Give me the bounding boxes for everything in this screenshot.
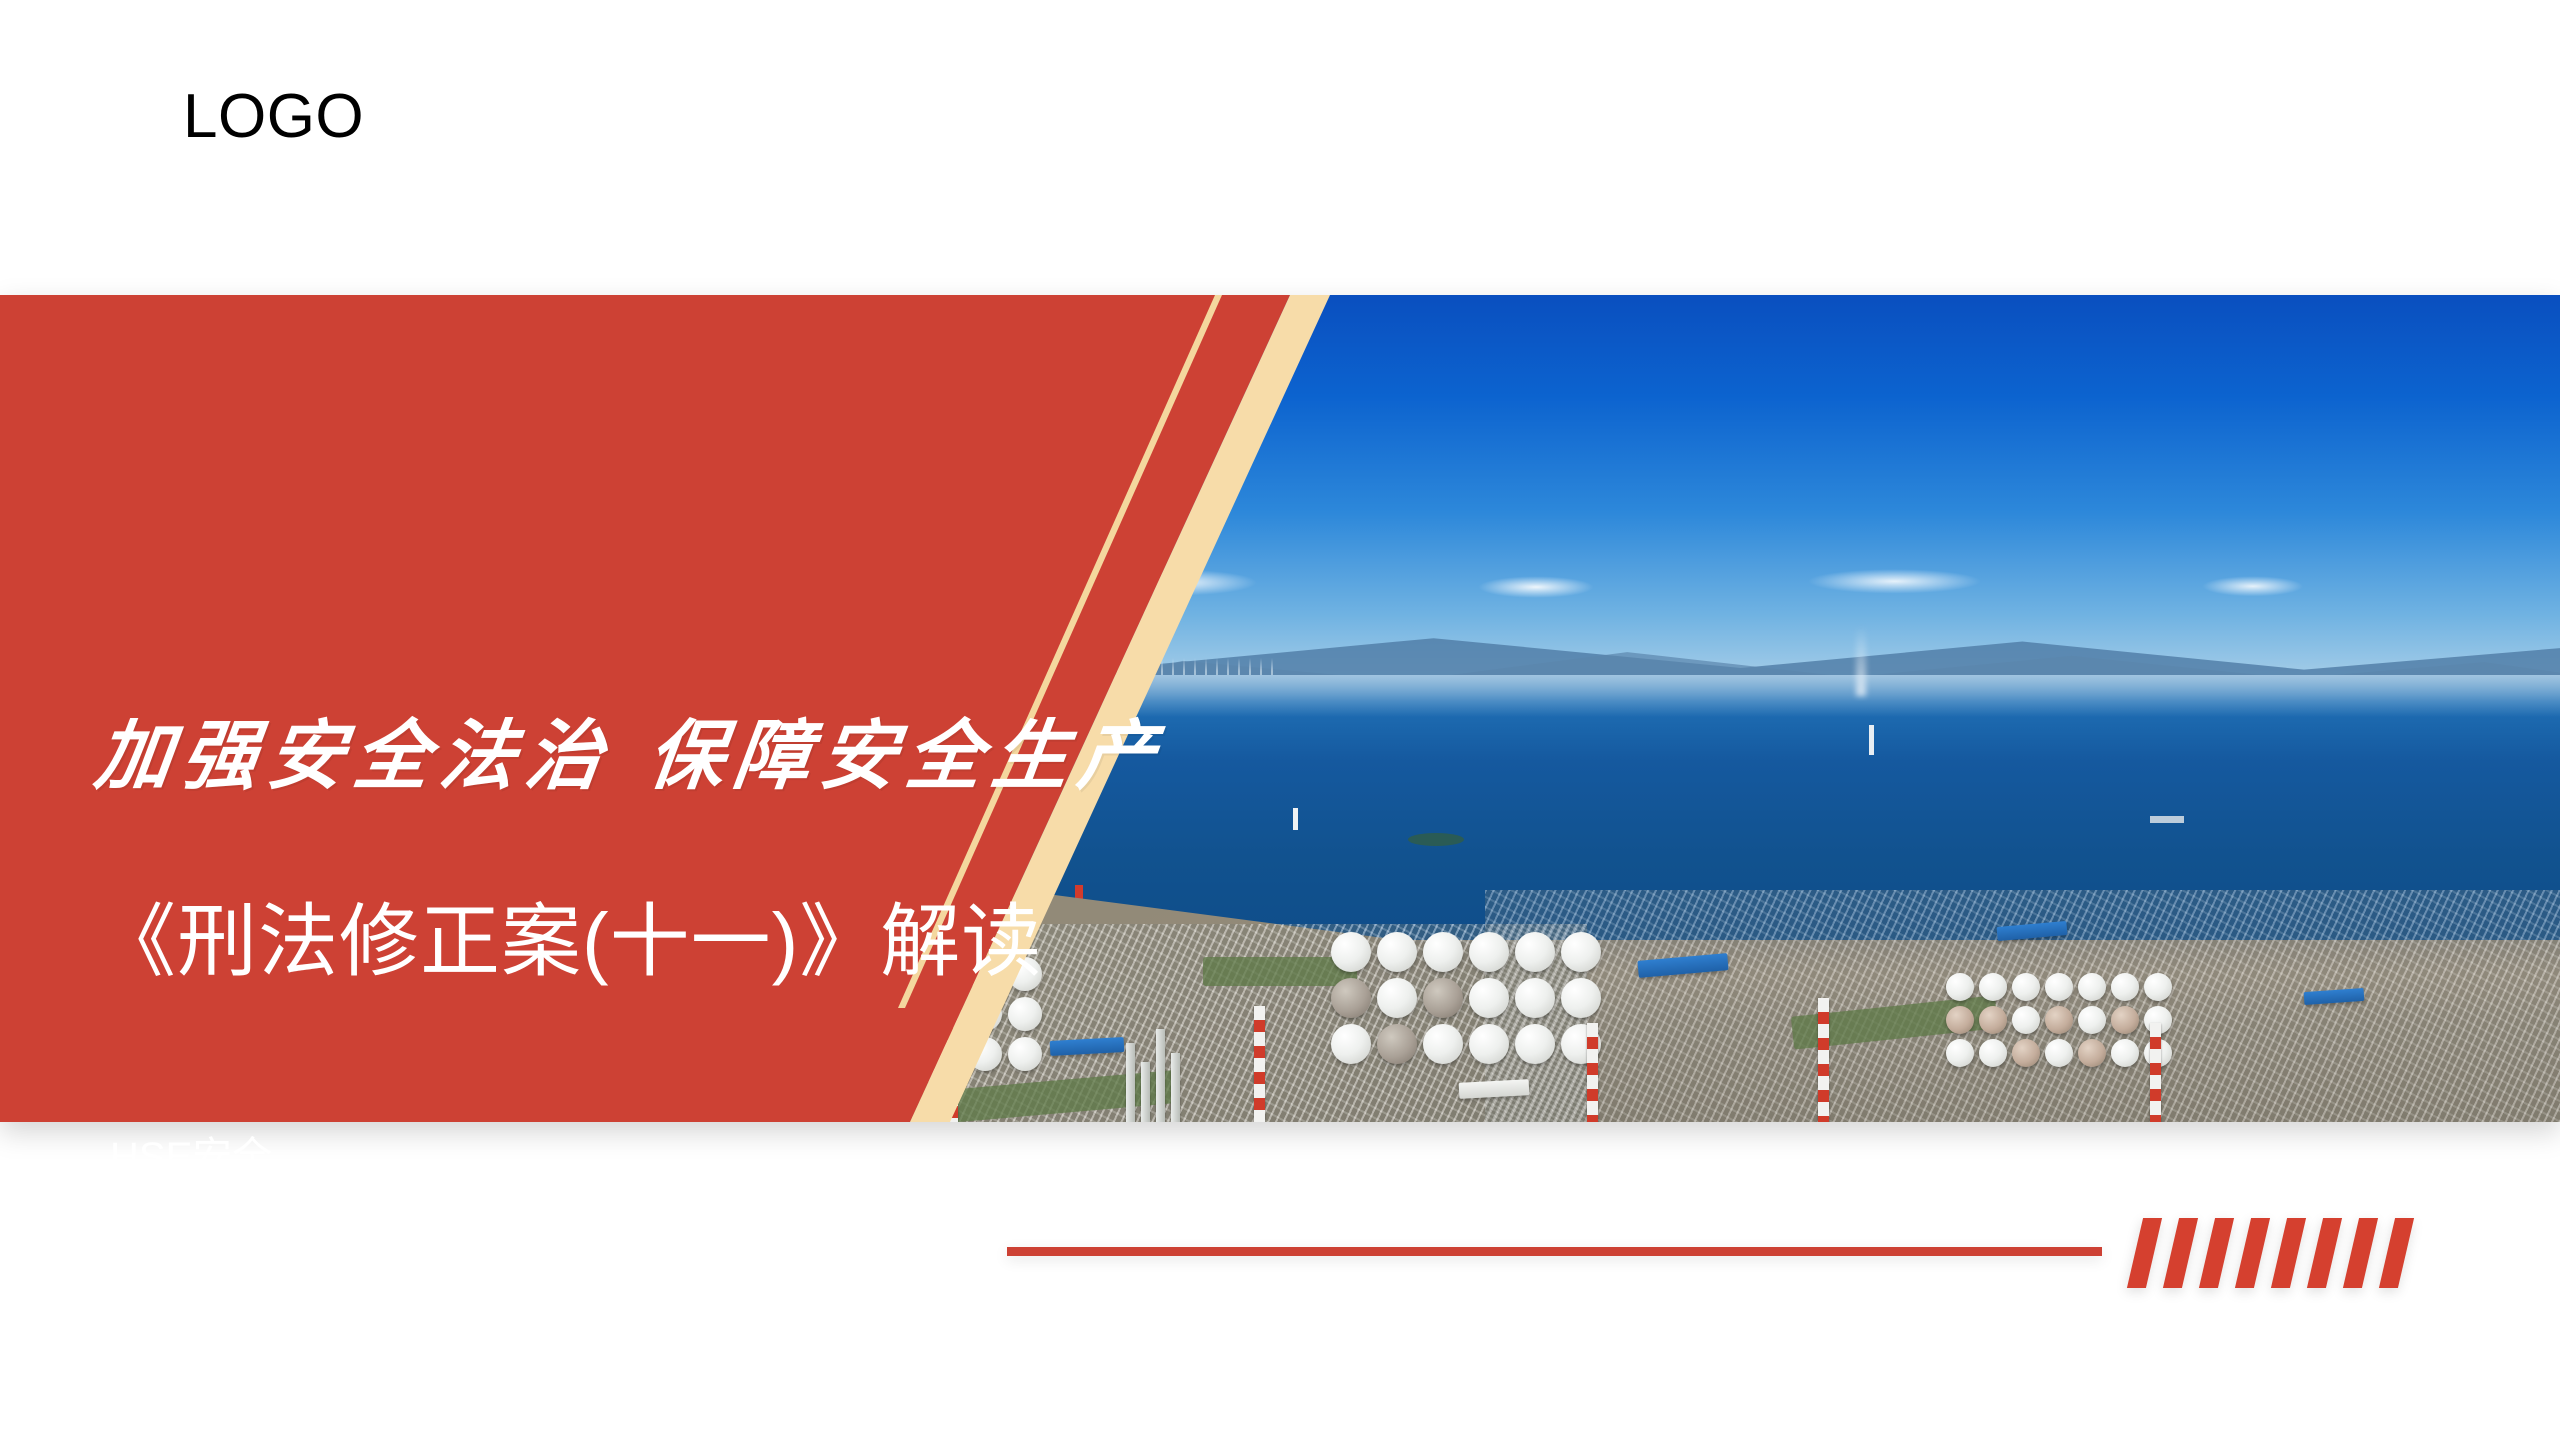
subtitle: 《刑法修正案(十一)》解读 xyxy=(96,895,1296,989)
slanted-stripe xyxy=(2271,1218,2306,1288)
presentation-slide: LOGO xyxy=(0,0,2560,1440)
byline-block: HSE安全 2021.XX.XX xyxy=(110,1125,328,1255)
slanted-stripe xyxy=(2235,1218,2270,1288)
smoke-plume xyxy=(1856,626,1866,696)
chimney xyxy=(1818,998,1829,1122)
islet xyxy=(1408,833,1464,846)
hero-banner: 加强安全法治 保障安全生产 《刑法修正案(十一)》解读 HSE安全 2021.X… xyxy=(0,295,2560,1122)
chimney xyxy=(1254,1006,1265,1122)
slanted-stripe xyxy=(2199,1218,2234,1288)
lighthouse xyxy=(1293,808,1298,830)
stripe-decoration xyxy=(2135,1218,2475,1288)
chimney xyxy=(1587,1023,1598,1122)
headline-calligraphy: 加强安全法治 保障安全生产 xyxy=(91,715,1361,797)
author-text: HSE安全 xyxy=(110,1125,328,1190)
slanted-stripe xyxy=(2163,1218,2198,1288)
distillation-columns xyxy=(1126,1023,1180,1122)
slanted-stripe xyxy=(2379,1218,2414,1288)
bottom-rule xyxy=(1007,1247,2102,1256)
date-text: 2021.XX.XX xyxy=(110,1190,328,1255)
far-chimney xyxy=(1869,725,1874,755)
slanted-stripe xyxy=(2307,1218,2342,1288)
slanted-stripe xyxy=(2343,1218,2378,1288)
logo-text: LOGO xyxy=(183,86,364,148)
slanted-stripe xyxy=(2127,1218,2162,1288)
tank-farm xyxy=(1946,973,2172,1067)
ship xyxy=(2150,816,2184,823)
tank-farm xyxy=(1331,932,1601,1064)
plant-building xyxy=(1459,1079,1530,1099)
chimney xyxy=(2150,1023,2161,1122)
